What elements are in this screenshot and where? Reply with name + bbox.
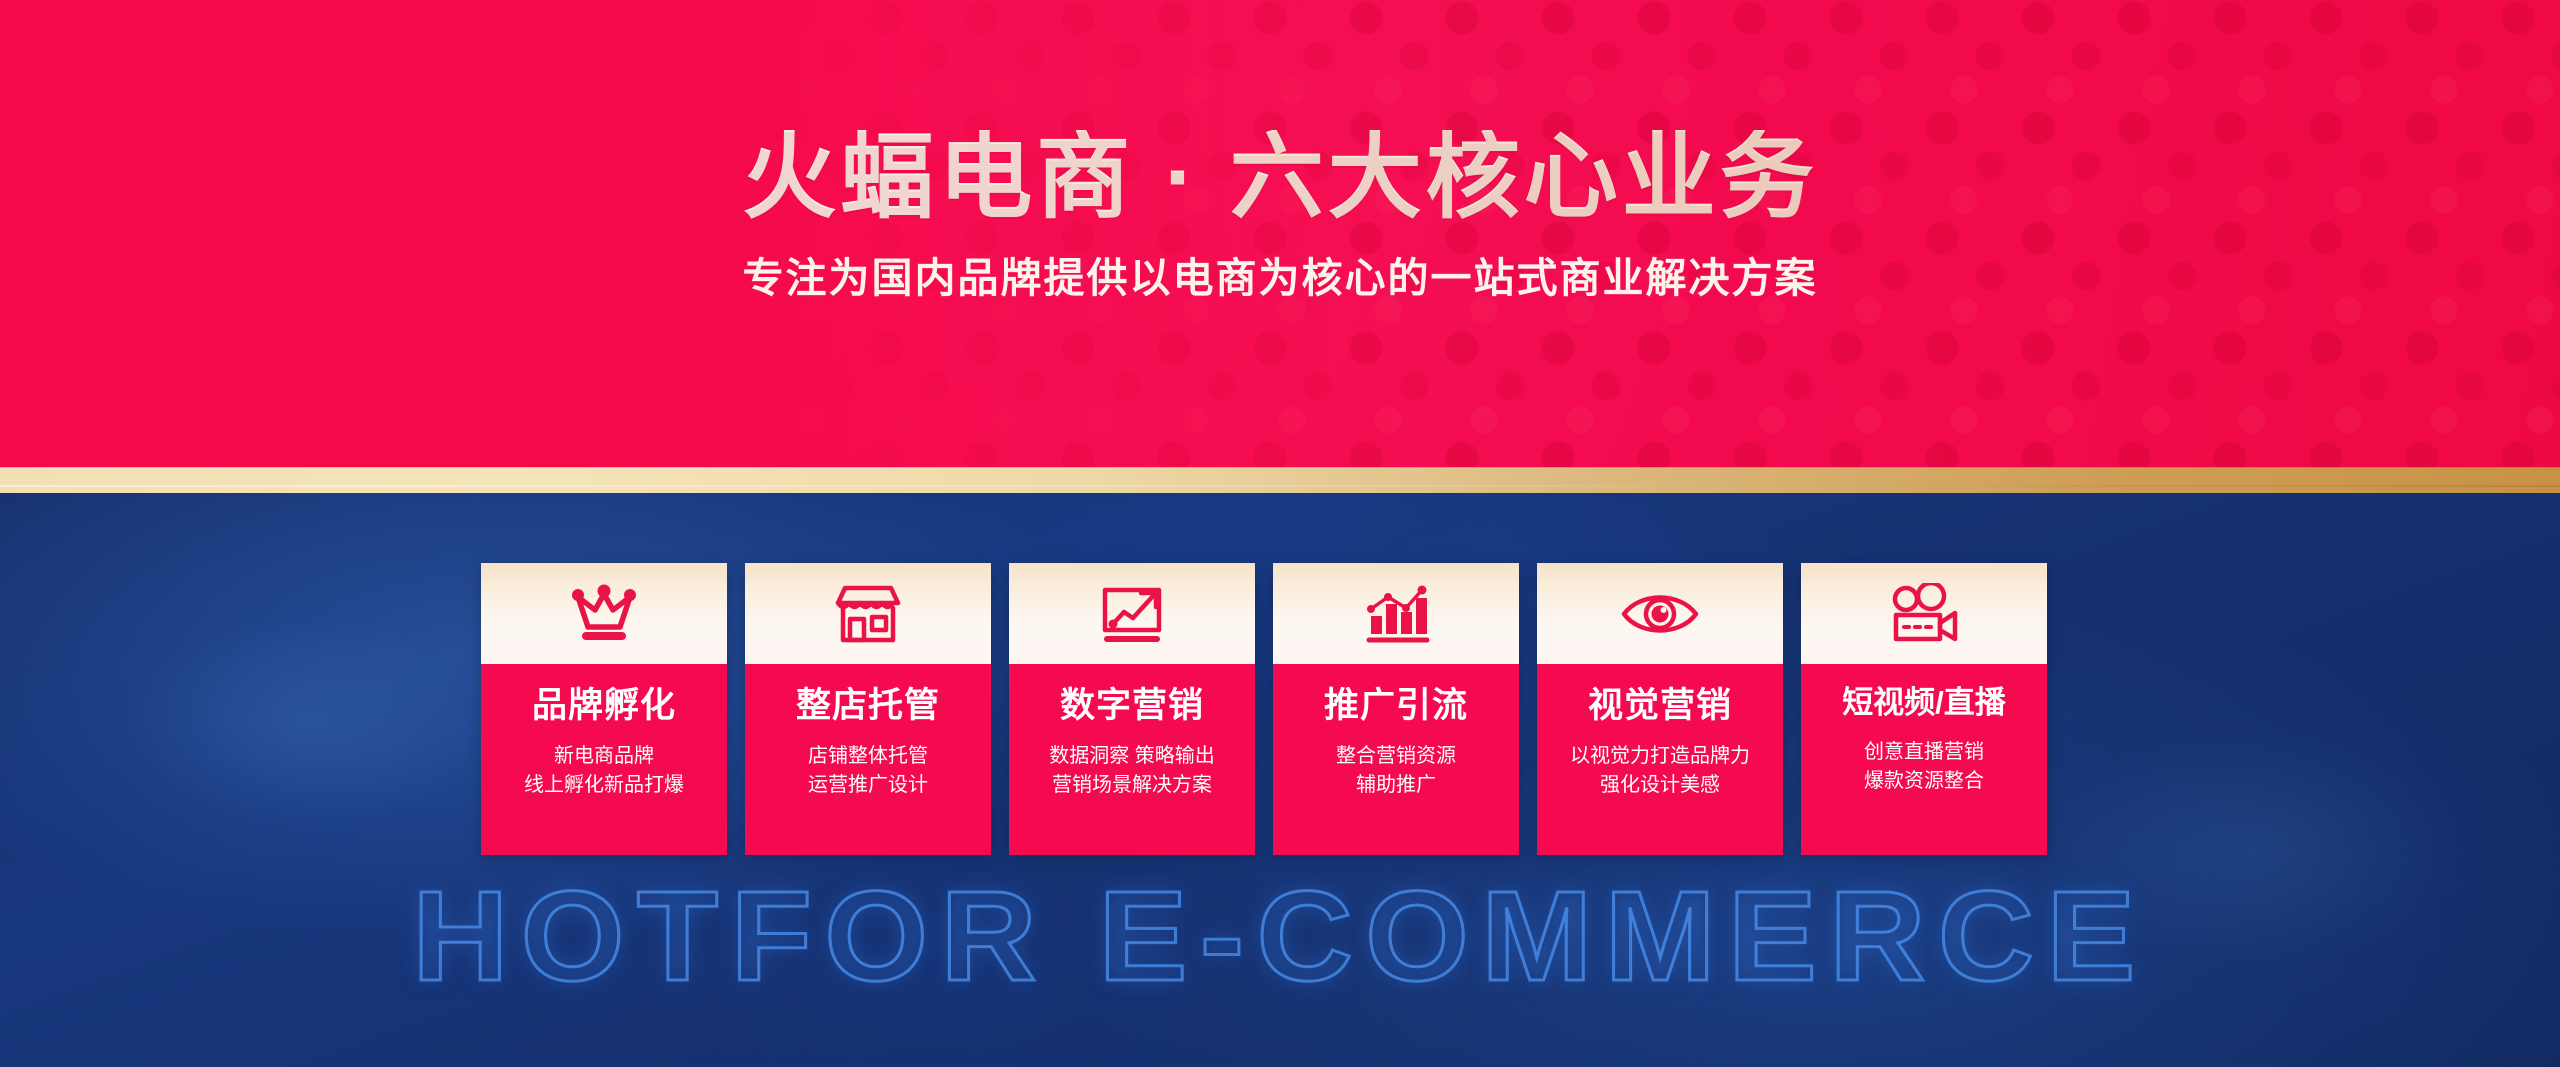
service-card-store-management[interactable]: 整店托管 店铺整体托管 运营推广设计 [745,563,991,855]
brand-wordmark: HOTFOR E-COMMERCE [0,873,2560,1001]
card-icon-header [481,563,727,664]
card-icon-header [1537,563,1783,664]
card-icon-header [745,563,991,664]
promo-banner: 火蝠电商 · 六大核心业务 专注为国内品牌提供以电商为核心的一站式商业解决方案 … [0,0,2560,1067]
page-subtitle: 专注为国内品牌提供以电商为核心的一站式商业解决方案 [0,258,2560,299]
card-icon-header [1273,563,1519,664]
card-desc-line-2: 强化设计美感 [1600,774,1720,796]
card-desc-line-1: 店铺整体托管 [808,745,928,767]
card-text-body: 短视频/直播 创意直播营销 爆款资源整合 [1801,664,2047,855]
card-text-body: 数字营销 数据洞察 策略输出 营销场景解决方案 [1009,664,1255,855]
card-text-body: 品牌孵化 新电商品牌 线上孵化新品打爆 [481,664,727,855]
service-card-visual-marketing[interactable]: 视觉营销 以视觉力打造品牌力 强化设计美感 [1537,563,1783,855]
card-title: 品牌孵化 [532,686,676,725]
storefront-icon [833,582,903,646]
bar-chart-line-icon [1361,582,1431,646]
card-desc-line-2: 运营推广设计 [808,774,928,796]
card-title: 短视频/直播 [1842,686,2006,721]
service-card-traffic-promotion[interactable]: 推广引流 整合营销资源 辅助推广 [1273,563,1519,855]
card-text-body: 视觉营销 以视觉力打造品牌力 强化设计美感 [1537,664,1783,855]
card-desc-line-2: 辅助推广 [1356,774,1436,796]
card-desc-line-1: 新电商品牌 [554,745,654,767]
card-text-body: 推广引流 整合营销资源 辅助推广 [1273,664,1519,855]
gold-divider [0,467,2560,493]
card-title: 整店托管 [796,686,940,725]
card-description: 店铺整体托管 运营推广设计 [808,742,928,800]
card-description: 新电商品牌 线上孵化新品打爆 [524,742,684,800]
card-title: 数字营销 [1060,686,1204,725]
service-card-short-video-live[interactable]: 短视频/直播 创意直播营销 爆款资源整合 [1801,563,2047,855]
card-title: 推广引流 [1324,686,1468,725]
card-description: 整合营销资源 辅助推广 [1336,742,1456,800]
card-description: 数据洞察 策略输出 营销场景解决方案 [1049,742,1215,800]
service-card-brand-incubation[interactable]: 品牌孵化 新电商品牌 线上孵化新品打爆 [481,563,727,855]
service-card-list: 品牌孵化 新电商品牌 线上孵化新品打爆 [481,563,2082,855]
video-camera-icon [1887,583,1961,645]
gold-divider-hairline [0,485,2560,487]
card-desc-line-1: 整合营销资源 [1336,745,1456,767]
service-card-digital-marketing[interactable]: 数字营销 数据洞察 策略输出 营销场景解决方案 [1009,563,1255,855]
card-desc-line-2: 营销场景解决方案 [1052,774,1212,796]
card-desc-line-2: 爆款资源整合 [1864,770,1984,792]
trending-up-chart-icon [1097,582,1167,646]
card-title: 视觉营销 [1588,686,1732,725]
hero-text-block: 火蝠电商 · 六大核心业务 专注为国内品牌提供以电商为核心的一站式商业解决方案 [0,0,2560,299]
card-description: 创意直播营销 爆款资源整合 [1864,738,1984,796]
card-description: 以视觉力打造品牌力 强化设计美感 [1570,742,1750,800]
card-desc-line-2: 线上孵化新品打爆 [524,774,684,796]
card-desc-line-1: 创意直播营销 [1864,741,1984,763]
crown-icon [568,583,640,645]
card-icon-header [1801,563,2047,664]
card-desc-line-1: 数据洞察 策略输出 [1049,745,1215,767]
card-icon-header [1009,563,1255,664]
card-text-body: 整店托管 店铺整体托管 运营推广设计 [745,664,991,855]
card-desc-line-1: 以视觉力打造品牌力 [1570,745,1750,767]
eye-icon [1620,586,1700,642]
page-title: 火蝠电商 · 六大核心业务 [0,130,2560,224]
